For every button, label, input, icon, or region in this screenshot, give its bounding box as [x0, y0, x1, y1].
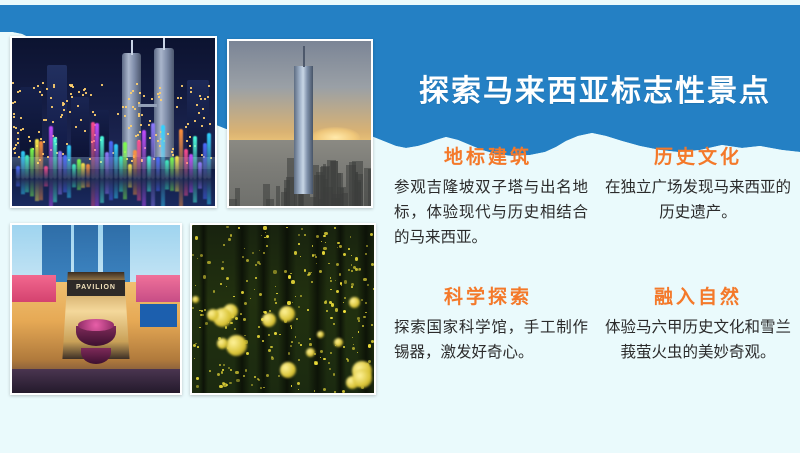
feature-text-column: 地标建筑 参观吉隆坡双子塔与出名地标，体验现代与历史相结合的马来西亚。 历史文化… [380, 140, 800, 440]
pavilion-sign-text: PAVILION [67, 280, 124, 295]
feature-landmark-body: 参观吉隆坡双子塔与出名地标，体验现代与历史相结合的马来西亚。 [388, 175, 588, 250]
photo-gallery: PAVILION [0, 0, 380, 453]
feature-landmark: 地标建筑 参观吉隆坡双子塔与出名地标，体验现代与历史相结合的马来西亚。 [388, 148, 588, 250]
feature-science-body: 探索国家科学馆，手工制作锡器，激发好奇心。 [388, 315, 588, 365]
fireflies-artwork [192, 225, 374, 393]
feature-science-title: 科学探索 [388, 288, 588, 309]
feature-nature-body: 体验马六甲历史文化和雪兰莪萤火虫的美妙奇观。 [598, 315, 798, 365]
merdeka-artwork [229, 41, 371, 206]
poster-canvas: 探索马来西亚标志性景点 [0, 0, 800, 453]
feature-history-title: 历史文化 [598, 148, 798, 169]
page-title: 探索马来西亚标志性景点 [390, 66, 800, 110]
feature-science: 科学探索 探索国家科学馆，手工制作锡器，激发好奇心。 [388, 288, 588, 365]
feature-history: 历史文化 在独立广场发现马来西亚的历史遗产。 [598, 148, 798, 225]
feature-nature-title: 融入自然 [598, 288, 798, 309]
petronas-artwork [12, 38, 215, 206]
photo-pavilion-mall[interactable]: PAVILION [10, 223, 182, 395]
photo-fireflies-forest[interactable] [190, 223, 376, 395]
feature-history-body: 在独立广场发现马来西亚的历史遗产。 [598, 175, 798, 225]
feature-nature: 融入自然 体验马六甲历史文化和雪兰莪萤火虫的美妙奇观。 [598, 288, 798, 365]
photo-petronas-towers-fountain[interactable] [10, 36, 217, 208]
photo-merdeka-118-sunset[interactable] [227, 39, 373, 208]
pavilion-artwork: PAVILION [12, 225, 180, 393]
feature-landmark-title: 地标建筑 [388, 148, 588, 169]
